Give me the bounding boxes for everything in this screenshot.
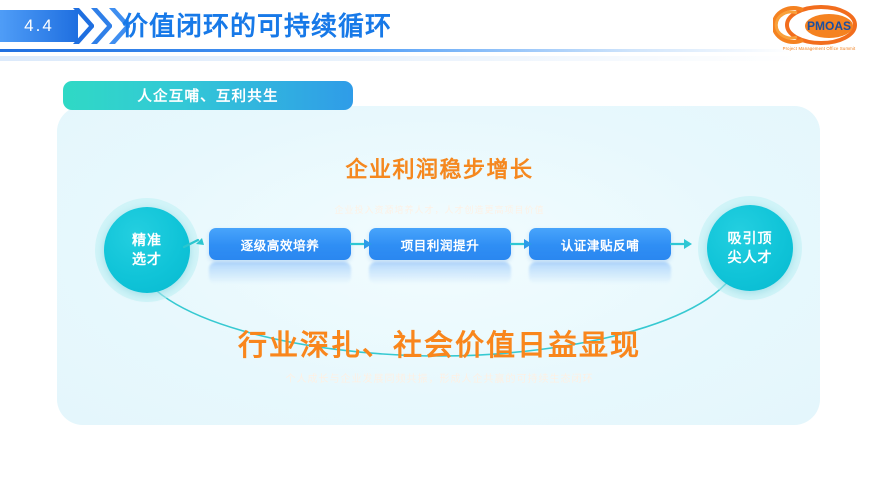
headline-top: 企业利润稳步增长 — [0, 152, 879, 184]
slide-canvas: 4.4 价值闭环的可持续循环 PMOAS Project Management … — [0, 0, 879, 495]
page-title: 价值闭环的可持续循环 — [122, 6, 392, 43]
node-label-line1: 吸引顶 — [728, 229, 773, 248]
flow-step-2[interactable]: 项目利润提升 — [369, 228, 511, 260]
node-label-line1: 精准 — [132, 231, 162, 250]
arrow-right-icon — [669, 236, 695, 252]
flow-step-label: 认证津贴反哺 — [561, 235, 640, 254]
brand-logo: PMOAS Project Management Office Summit — [773, 4, 865, 56]
node-circle: 精准 选才 — [104, 207, 190, 293]
header-rule-primary — [0, 49, 790, 52]
flow-step-1[interactable]: 逐级高效培养 — [209, 228, 351, 260]
node-circle: 吸引顶 尖人才 — [707, 205, 793, 291]
node-label-line2: 选才 — [132, 250, 162, 269]
arrow-right-icon — [182, 236, 208, 252]
logo-subtitle: Project Management Office Summit — [762, 46, 877, 51]
svg-text:PMOAS: PMOAS — [807, 19, 851, 33]
section-number-chip: 4.4 — [0, 10, 78, 42]
slide-header: 4.4 价值闭环的可持续循环 — [0, 0, 879, 62]
arrow-right-icon — [509, 236, 535, 252]
header-rule-secondary — [0, 56, 800, 61]
arrow-right-icon — [349, 236, 375, 252]
node-label-line2: 尖人才 — [728, 248, 773, 267]
pmoas-logo-icon: PMOAS — [773, 4, 865, 50]
step-reflection — [369, 262, 511, 284]
flow-step-3[interactable]: 认证津贴反哺 — [529, 228, 671, 260]
step-reflection — [529, 262, 671, 284]
section-number-label: 4.4 — [24, 16, 54, 36]
step-reflection — [209, 262, 351, 284]
headline-bottom: 行业深扎、社会价值日益显现 — [0, 322, 879, 364]
flow-step-label: 项目利润提升 — [401, 235, 480, 254]
section-tag-label: 人企互哺、互利共生 — [137, 85, 278, 106]
flow-end-node[interactable]: 吸引顶 尖人才 — [698, 196, 802, 300]
flow-step-label: 逐级高效培养 — [241, 235, 320, 254]
section-tag: 人企互哺、互利共生 — [63, 81, 353, 110]
watermark-text-bottom: 个人成长与企业发展同频共振，形成人企共赢的可持续生态闭环 — [0, 370, 879, 385]
